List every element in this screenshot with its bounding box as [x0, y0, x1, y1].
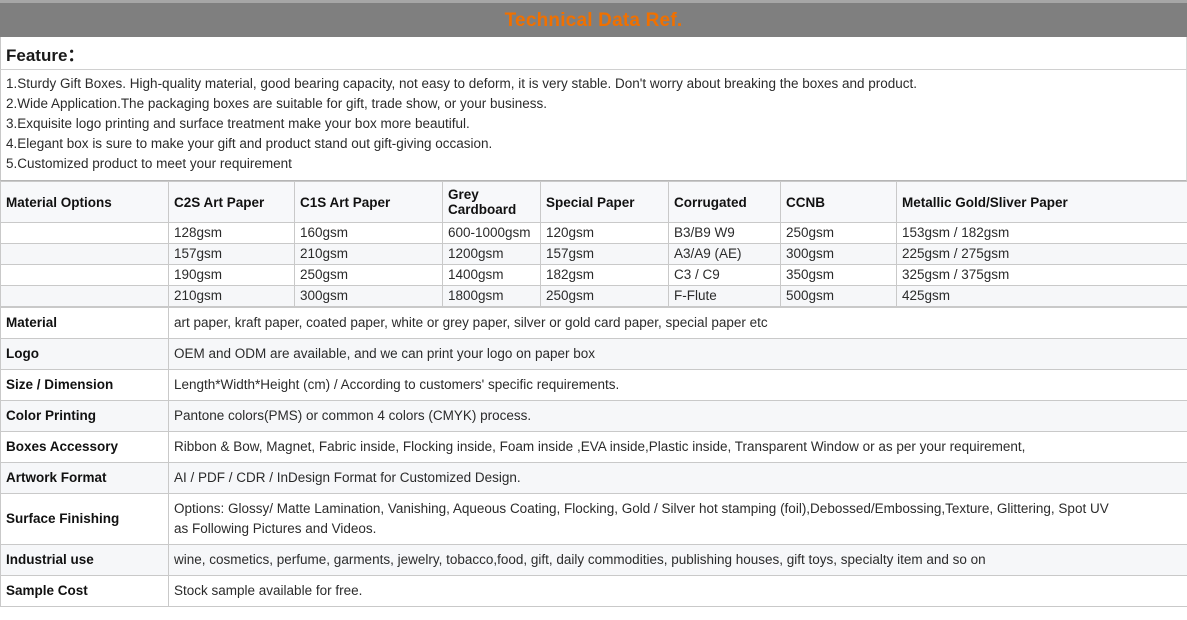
cell-blank — [1, 223, 169, 244]
cell-ccnb: 500gsm — [781, 286, 897, 307]
spec-value-line: OEM and ODM are available, and we can pr… — [174, 344, 1182, 364]
cell-blank — [1, 244, 169, 265]
cell-ccnb: 250gsm — [781, 223, 897, 244]
spec-value-line: Options: Glossy/ Matte Lamination, Vanis… — [174, 499, 1182, 519]
specification-table: Material art paper, kraft paper, coated … — [0, 307, 1187, 607]
cell-special-paper: 157gsm — [541, 244, 669, 265]
cell-ccnb: 350gsm — [781, 265, 897, 286]
cell-c2s: 210gsm — [169, 286, 295, 307]
technical-data-sheet: Technical Data Ref. Feature： 1.Sturdy Gi… — [0, 0, 1187, 620]
cell-c1s: 300gsm — [295, 286, 443, 307]
cell-ccnb: 300gsm — [781, 244, 897, 265]
cell-corrugated: B3/B9 W9 — [669, 223, 781, 244]
cell-c2s: 190gsm — [169, 265, 295, 286]
table-row: 190gsm 250gsm 1400gsm 182gsm C3 / C9 350… — [1, 265, 1187, 286]
table-row: Industrial use wine, cosmetics, perfume,… — [1, 545, 1187, 576]
cell-grey-cardboard: 600-1000gsm — [443, 223, 541, 244]
material-options-table: Material Options C2S Art Paper C1S Art P… — [0, 181, 1187, 307]
column-header-c1s-art-paper: C1S Art Paper — [295, 182, 443, 223]
spec-value-line: AI / PDF / CDR / InDesign Format for Cus… — [174, 468, 1182, 488]
feature-heading-label: Feature： — [6, 41, 84, 66]
cell-corrugated: A3/A9 (AE) — [669, 244, 781, 265]
spec-value-line: Stock sample available for free. — [174, 581, 1182, 601]
column-header-ccnb: CCNB — [781, 182, 897, 223]
feature-line: 1.Sturdy Gift Boxes. High-quality materi… — [6, 74, 1181, 94]
feature-line: 5.Customized product to meet your requir… — [6, 154, 1181, 174]
column-header-special-paper: Special Paper — [541, 182, 669, 223]
table-row: Surface Finishing Options: Glossy/ Matte… — [1, 494, 1187, 545]
table-row: Size / Dimension Length*Width*Height (cm… — [1, 370, 1187, 401]
cell-grey-cardboard: 1200gsm — [443, 244, 541, 265]
table-row: 157gsm 210gsm 1200gsm 157gsm A3/A9 (AE) … — [1, 244, 1187, 265]
column-header-material-options: Material Options — [1, 182, 169, 223]
spec-label-artwork-format: Artwork Format — [1, 463, 169, 494]
spec-label-size-dimension: Size / Dimension — [1, 370, 169, 401]
spec-label-logo: Logo — [1, 339, 169, 370]
cell-special-paper: 120gsm — [541, 223, 669, 244]
cell-special-paper: 250gsm — [541, 286, 669, 307]
column-header-grey-cardboard: Grey Cardboard — [443, 182, 541, 223]
spec-value-line: Length*Width*Height (cm) / According to … — [174, 375, 1182, 395]
feature-line: 2.Wide Application.The packaging boxes a… — [6, 94, 1181, 114]
spec-value-industrial-use: wine, cosmetics, perfume, garments, jewe… — [169, 545, 1187, 576]
spec-value-logo: OEM and ODM are available, and we can pr… — [169, 339, 1187, 370]
table-row: Boxes Accessory Ribbon & Bow, Magnet, Fa… — [1, 432, 1187, 463]
cell-blank — [1, 265, 169, 286]
cell-c1s: 210gsm — [295, 244, 443, 265]
table-row: 128gsm 160gsm 600-1000gsm 120gsm B3/B9 W… — [1, 223, 1187, 244]
cell-metallic: 425gsm — [897, 286, 1187, 307]
spec-label-sample-cost: Sample Cost — [1, 576, 169, 607]
table-row: Color Printing Pantone colors(PMS) or co… — [1, 401, 1187, 432]
feature-heading-row: Feature： — [0, 37, 1187, 70]
table-row: Logo OEM and ODM are available, and we c… — [1, 339, 1187, 370]
spec-label-color-printing: Color Printing — [1, 401, 169, 432]
cell-metallic: 325gsm / 375gsm — [897, 265, 1187, 286]
spec-label-industrial-use: Industrial use — [1, 545, 169, 576]
spec-label-material: Material — [1, 308, 169, 339]
cell-c2s: 157gsm — [169, 244, 295, 265]
column-header-metallic-gold-sliver-paper: Metallic Gold/Sliver Paper — [897, 182, 1187, 223]
spec-value-line: art paper, kraft paper, coated paper, wh… — [174, 313, 1182, 333]
feature-list: 1.Sturdy Gift Boxes. High-quality materi… — [0, 70, 1187, 181]
page-title: Technical Data Ref. — [505, 11, 683, 30]
spec-value-line: as Following Pictures and Videos. — [174, 519, 1182, 539]
spec-value-sample-cost: Stock sample available for free. — [169, 576, 1187, 607]
spec-value-line: Pantone colors(PMS) or common 4 colors (… — [174, 406, 1182, 426]
spec-value-size-dimension: Length*Width*Height (cm) / According to … — [169, 370, 1187, 401]
cell-c1s: 250gsm — [295, 265, 443, 286]
spec-value-material: art paper, kraft paper, coated paper, wh… — [169, 308, 1187, 339]
column-header-corrugated: Corrugated — [669, 182, 781, 223]
spec-label-surface-finishing: Surface Finishing — [1, 494, 169, 545]
cell-c1s: 160gsm — [295, 223, 443, 244]
cell-corrugated: C3 / C9 — [669, 265, 781, 286]
spec-value-artwork-format: AI / PDF / CDR / InDesign Format for Cus… — [169, 463, 1187, 494]
cell-metallic: 225gsm / 275gsm — [897, 244, 1187, 265]
column-header-c2s-art-paper: C2S Art Paper — [169, 182, 295, 223]
cell-special-paper: 182gsm — [541, 265, 669, 286]
spec-value-color-printing: Pantone colors(PMS) or common 4 colors (… — [169, 401, 1187, 432]
spec-value-line: wine, cosmetics, perfume, garments, jewe… — [174, 550, 1182, 570]
cell-grey-cardboard: 1800gsm — [443, 286, 541, 307]
material-table-header-row: Material Options C2S Art Paper C1S Art P… — [1, 182, 1187, 223]
table-row: Material art paper, kraft paper, coated … — [1, 308, 1187, 339]
title-banner: Technical Data Ref. — [0, 0, 1187, 37]
cell-metallic: 153gsm / 182gsm — [897, 223, 1187, 244]
cell-grey-cardboard: 1400gsm — [443, 265, 541, 286]
cell-corrugated: F-Flute — [669, 286, 781, 307]
spec-value-surface-finishing: Options: Glossy/ Matte Lamination, Vanis… — [169, 494, 1187, 545]
cell-c2s: 128gsm — [169, 223, 295, 244]
table-row: 210gsm 300gsm 1800gsm 250gsm F-Flute 500… — [1, 286, 1187, 307]
table-row: Sample Cost Stock sample available for f… — [1, 576, 1187, 607]
feature-line: 4.Elegant box is sure to make your gift … — [6, 134, 1181, 154]
feature-line: 3.Exquisite logo printing and surface tr… — [6, 114, 1181, 134]
spec-value-boxes-accessory: Ribbon & Bow, Magnet, Fabric inside, Flo… — [169, 432, 1187, 463]
cell-blank — [1, 286, 169, 307]
table-row: Artwork Format AI / PDF / CDR / InDesign… — [1, 463, 1187, 494]
spec-label-boxes-accessory: Boxes Accessory — [1, 432, 169, 463]
spec-value-line: Ribbon & Bow, Magnet, Fabric inside, Flo… — [174, 437, 1182, 457]
